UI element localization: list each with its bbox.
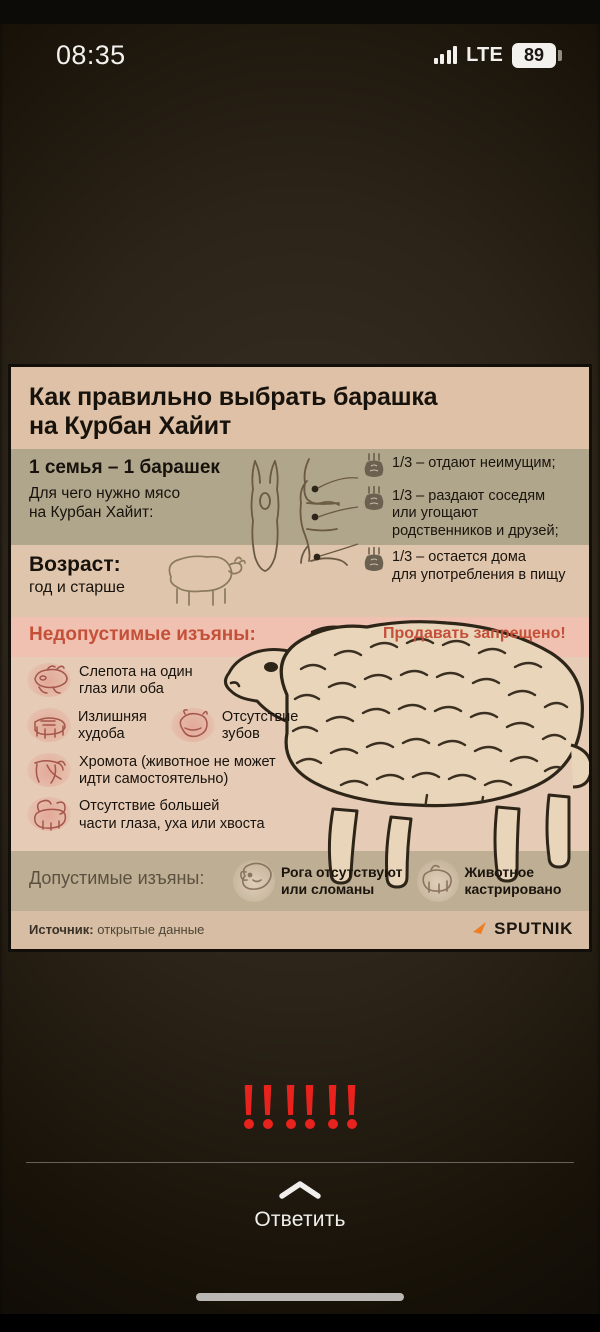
sheep-thin-icon: [27, 708, 71, 742]
age-block: Возраст: год и старше: [29, 553, 229, 597]
bottom-safe-area: [0, 1314, 600, 1332]
third-text: 1/3 – остается дома для употребления в п…: [392, 549, 565, 584]
story-viewer-screen: 08:35 LTE 89: [0, 0, 600, 1332]
defect-text: Слепота на один глаз или оба: [79, 663, 193, 699]
source-label: Источник:: [29, 922, 94, 937]
list-item: Отсутствие большей части глаза, уха или …: [27, 797, 327, 833]
defect-no-teeth: Отсутствие зубов: [171, 708, 299, 744]
sheep-no-teeth-icon: [171, 708, 215, 742]
family-rule-label: 1 семья – 1 барашек: [29, 457, 254, 479]
third-text: 1/3 – отдают неимущим;: [392, 455, 556, 472]
status-clock: 08:35: [56, 40, 126, 71]
source-value: открытые данные: [97, 922, 204, 937]
reply-label: Ответить: [254, 1208, 345, 1232]
notch-bar: [0, 0, 600, 24]
defect-text: Хромота (животное не может идти самостоя…: [79, 753, 276, 789]
sputnik-logo: SPUTNIK: [472, 919, 573, 939]
divider: [26, 1162, 574, 1163]
page-title-line1: Как правильно выбрать барашка: [29, 383, 569, 412]
status-indicators: LTE 89: [434, 43, 556, 68]
forbidden-defects-list: Слепота на один глаз или оба Излишняя: [27, 663, 327, 842]
double-exclamation-icon: [326, 1085, 359, 1131]
defect-text: Отсутствие большей части глаза, уха или …: [79, 797, 265, 833]
cellular-signal-icon: [434, 46, 458, 64]
brand-name: SPUTNIK: [494, 919, 573, 939]
age-label: Возраст:: [29, 553, 229, 577]
allowed-text: Животное кастрировано: [465, 860, 562, 898]
sheep-blind-eye-icon: [27, 663, 71, 697]
source-line: Источник: открытые данные: [29, 922, 204, 937]
sell-prohibited-warning: Продавать запрещено!: [383, 625, 566, 643]
defect-text: Отсутствие зубов: [222, 708, 299, 744]
reply-button[interactable]: Ответить: [0, 1180, 600, 1232]
meat-portion-icon: [363, 547, 385, 573]
page-title-line2: на Курбан Хайит: [29, 412, 569, 441]
defect-thin: Излишняя худоба: [27, 708, 147, 744]
purpose-block: 1 семья – 1 барашек Для чего нужно мясо …: [29, 457, 254, 523]
sheep-missing-parts-icon: [27, 797, 71, 831]
meat-distribution-list: 1/3 – отдают неимущим; 1/3 – раздают сос…: [363, 455, 583, 584]
battery-icon: 89: [512, 43, 556, 68]
list-item: 1/3 – остается дома для употребления в п…: [363, 549, 583, 584]
list-item: Хромота (животное не может идти самостоя…: [27, 753, 327, 789]
sheep-broken-horns-icon: [233, 860, 275, 902]
infographic-image[interactable]: Как правильно выбрать барашка на Курбан …: [8, 364, 592, 952]
defect-text: Излишняя худоба: [78, 708, 147, 744]
sputnik-logo-icon: [472, 921, 489, 938]
double-exclamation-icon: [284, 1085, 317, 1131]
list-item: 1/3 – отдают неимущим;: [363, 455, 583, 479]
meat-portion-icon: [363, 453, 385, 479]
list-item: Животное кастрировано: [417, 860, 562, 902]
chevron-up-icon[interactable]: [278, 1180, 322, 1200]
purpose-label: Для чего нужно мясо на Курбан Хайит:: [29, 485, 254, 523]
page-title: Как правильно выбрать барашка на Курбан …: [29, 383, 569, 441]
home-indicator[interactable]: [196, 1293, 404, 1301]
allowed-heading: Допустимые изъяны:: [29, 868, 204, 889]
list-item: Слепота на один глаз или оба: [27, 663, 327, 699]
list-item: Излишняя худоба Отсутствие зубов: [27, 708, 327, 744]
age-value: год и старше: [29, 579, 229, 597]
network-type-label: LTE: [466, 44, 503, 67]
list-item: 1/3 – раздают соседям или угощают родств…: [363, 488, 583, 540]
reaction-emojis: [0, 1085, 600, 1131]
third-text: 1/3 – раздают соседям или угощают родств…: [392, 488, 559, 540]
sheep-castrated-icon: [417, 860, 459, 902]
double-exclamation-icon: [242, 1085, 275, 1131]
allowed-text: Рога отсутствуют или сломаны: [281, 860, 403, 898]
list-item: Рога отсутствуют или сломаны: [233, 860, 403, 902]
sheep-lame-icon: [27, 753, 71, 787]
allowed-defects-list: Рога отсутствуют или сломаны Животное ка…: [233, 860, 561, 902]
status-bar: 08:35 LTE 89: [0, 24, 600, 86]
meat-portion-icon: [363, 486, 385, 512]
forbidden-heading: Недопустимые изъяны:: [29, 624, 256, 646]
